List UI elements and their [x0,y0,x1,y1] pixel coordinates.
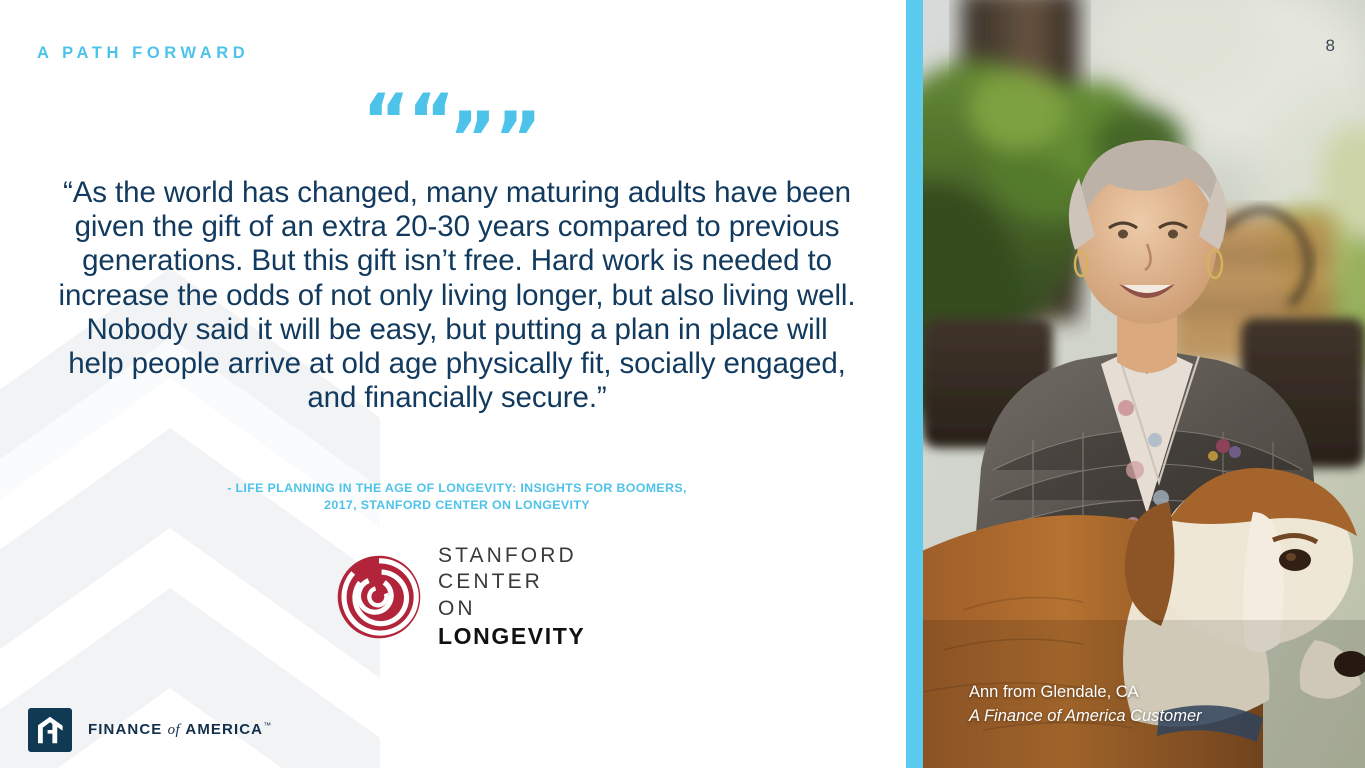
trademark-symbol: ™ [263,721,271,730]
photo-caption: Ann from Glendale, CA A Finance of Ameri… [969,680,1202,728]
brand-name-part-1: FINANCE [88,721,162,738]
content-panel: A PATH FORWARD ““”” “As the world has ch… [0,0,906,768]
brand-name-of: of [168,722,180,738]
finance-of-america-logo: FINANCE of AMERICA™ [28,708,271,752]
attribution-line-1: - LIFE PLANNING IN THE AGE OF LONGEVITY:… [56,480,858,497]
slide: A PATH FORWARD ““”” “As the world has ch… [0,0,1365,768]
accent-bar [906,0,923,768]
stanford-logo-line-2: CENTER ON [438,569,588,622]
decorative-quote-icon: ““”” [0,88,906,158]
brand-name-part-2: AMERICA [185,721,263,738]
customer-photo-image [923,0,1365,768]
pull-quote-text: “As the world has changed, many maturing… [56,176,858,415]
quote-close-icon: ”” [449,102,540,174]
stanford-spiral-icon [336,554,422,640]
finance-of-america-icon [28,708,72,752]
stanford-center-on-longevity-logo: STANFORD CENTER ON LONGEVITY [336,552,588,642]
stanford-logo-line-1: STANFORD [438,543,588,569]
stanford-logo-line-3: LONGEVITY [438,622,588,651]
quote-open-icon: ““ [362,84,453,156]
photo-caption-line-2: A Finance of America Customer [969,704,1202,728]
customer-photo: 8 Ann from Glendale, CA A Finance of Ame… [923,0,1365,768]
page-number: 8 [1326,36,1335,56]
finance-of-america-wordmark: FINANCE of AMERICA™ [88,721,271,739]
photo-caption-line-1: Ann from Glendale, CA [969,680,1202,704]
quote-attribution: - LIFE PLANNING IN THE AGE OF LONGEVITY:… [56,480,858,514]
attribution-line-2: 2017, STANFORD CENTER ON LONGEVITY [56,497,858,514]
section-eyebrow: A PATH FORWARD [37,44,249,63]
stanford-logo-wordmark: STANFORD CENTER ON LONGEVITY [438,543,588,651]
